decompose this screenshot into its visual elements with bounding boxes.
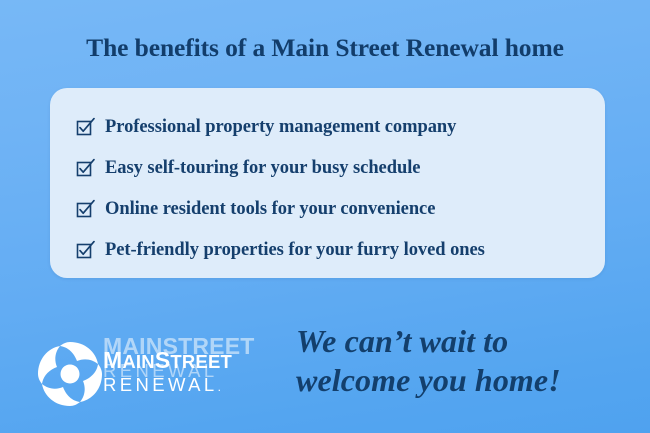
promo-poster: The benefits of a Main Street Renewal ho…	[0, 0, 650, 433]
benefit-label: Pet-friendly properties for your furry l…	[105, 241, 485, 260]
wordmark-s: S	[155, 347, 171, 373]
benefit-label: Professional property management company	[105, 118, 456, 137]
wordmark-main: MAINSTREET	[103, 349, 283, 372]
tagline: We can’t wait to welcome you home!	[296, 322, 636, 400]
ballot-box-with-check-icon	[75, 198, 97, 220]
ballot-box-with-check-icon	[75, 239, 97, 261]
tagline-line-2: welcome you home!	[296, 361, 636, 400]
page-title: The benefits of a Main Street Renewal ho…	[0, 34, 650, 62]
tagline-line-1: We can’t wait to	[296, 322, 636, 361]
ballot-box-with-check-icon	[75, 157, 97, 179]
list-item: Professional property management company	[75, 108, 591, 146]
wordmark-m: M	[103, 347, 122, 373]
benefit-label: Easy self-touring for your busy schedule	[105, 159, 420, 178]
mainstreet-renewal-pinwheel-icon	[30, 334, 110, 414]
wordmark-ain: AIN	[122, 351, 154, 372]
list-item: Easy self-touring for your busy schedule	[75, 149, 591, 187]
wordmark-sub: RENEWAL.	[103, 376, 283, 395]
benefits-card: Professional property management company…	[50, 88, 605, 278]
ballot-box-with-check-icon	[75, 116, 97, 138]
wordmark-mark: .	[218, 380, 221, 394]
wordmark-treet: TREET	[170, 351, 232, 372]
wordmark-front: MAINSTREET RENEWAL.	[103, 349, 283, 395]
benefit-label: Online resident tools for your convenien…	[105, 200, 435, 219]
list-item: Online resident tools for your convenien…	[75, 190, 591, 228]
brand-logo: MAINSTREET RENEWAL MAINSTREET RENEWAL.	[30, 330, 280, 420]
list-item: Pet-friendly properties for your furry l…	[75, 231, 591, 269]
benefits-list: Professional property management company…	[75, 108, 591, 272]
wordmark-renewal: RENEWAL	[103, 374, 218, 395]
